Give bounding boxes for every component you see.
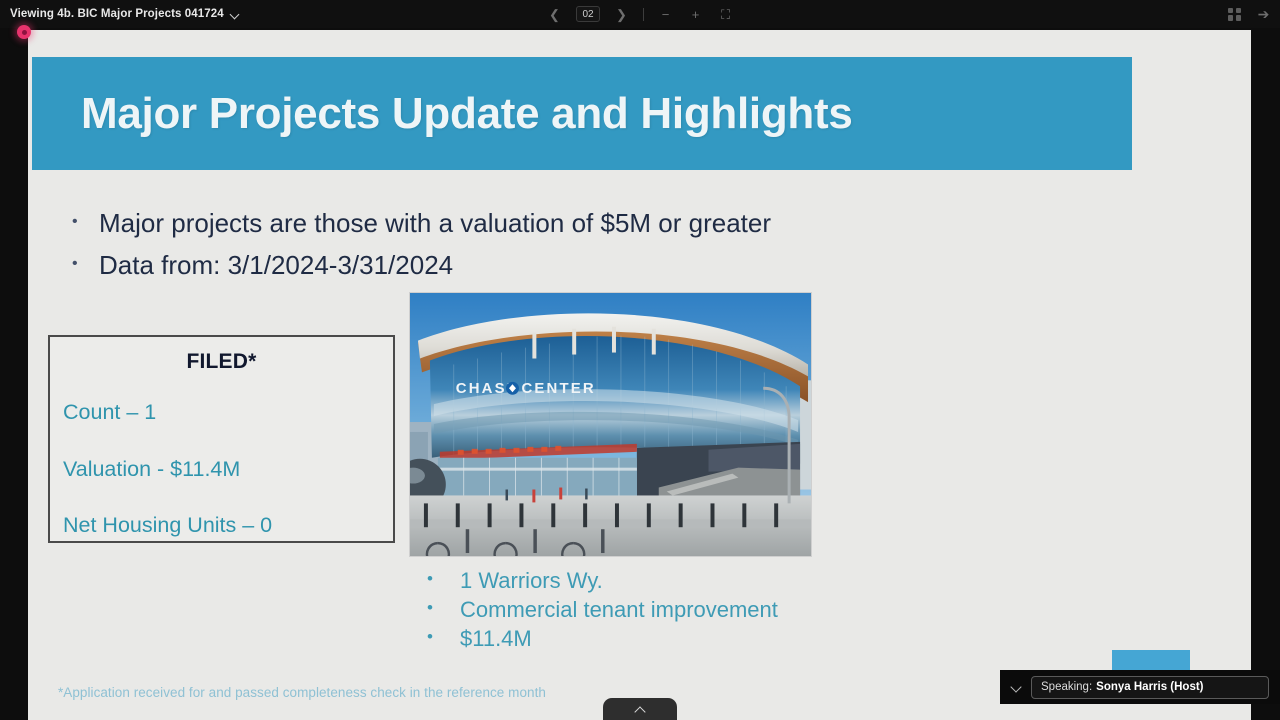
chase-center-illustration: CHASE CENTER [410, 293, 811, 556]
project-bullet-list: 1 Warriors Wy. Commercial tenant improve… [400, 566, 778, 653]
list-item: 1 Warriors Wy. [400, 566, 778, 595]
chevron-up-icon [634, 706, 646, 713]
filed-summary-box: FILED* Count – 1 Valuation - $11.4M Net … [48, 335, 395, 543]
expand-toolbar-handle[interactable] [603, 698, 677, 720]
chevron-right-icon[interactable]: ❯ [613, 6, 630, 23]
svg-text:CENTER: CENTER [521, 381, 595, 397]
filed-box-title: FILED* [50, 350, 393, 374]
page-controls: ❮ 02 ❯ − + ⛶ [546, 0, 734, 28]
chevron-down-icon[interactable] [1010, 683, 1023, 692]
filed-valuation: Valuation - $11.4M [50, 459, 393, 481]
toolbar-right-actions: ➔ [1228, 0, 1272, 28]
page-title: Major Projects Update and Highlights [81, 89, 853, 139]
list-item: $11.4M [400, 624, 778, 653]
chase-center-photo: CHASE CENTER [409, 292, 812, 557]
recording-dot-icon [17, 25, 31, 39]
list-item: Major projects are those with a valuatio… [66, 202, 1066, 244]
speaking-label: Speaking: [1041, 681, 1092, 693]
pointer-icon[interactable]: ➔ [1255, 6, 1272, 23]
minus-icon[interactable]: − [657, 6, 674, 23]
intro-bullet-list: Major projects are those with a valuatio… [66, 202, 1066, 286]
slide-canvas: Major Projects Update and Highlights Maj… [28, 30, 1251, 720]
slide-banner: Major Projects Update and Highlights [32, 57, 1132, 170]
speaking-status[interactable]: Speaking: Sonya Harris (Host) [1031, 676, 1269, 699]
list-item: Commercial tenant improvement [400, 595, 778, 624]
chevron-down-icon[interactable] [231, 10, 240, 19]
slide-footnote: *Application received for and passed com… [58, 685, 546, 700]
app-root: Viewing 4b. BIC Major Projects 041724 ❮ … [0, 0, 1280, 720]
top-toolbar: Viewing 4b. BIC Major Projects 041724 ❮ … [0, 0, 1280, 28]
chevron-left-icon[interactable]: ❮ [546, 6, 563, 23]
plus-icon[interactable]: + [687, 6, 704, 23]
toolbar-divider [643, 8, 644, 21]
viewing-title-text: Viewing 4b. BIC Major Projects 041724 [10, 8, 224, 20]
page-indicator[interactable]: 02 [576, 6, 600, 22]
fit-to-screen-icon[interactable]: ⛶ [717, 6, 734, 23]
grid-view-icon[interactable] [1228, 8, 1241, 21]
filed-net-housing-units: Net Housing Units – 0 [50, 515, 393, 537]
speaking-indicator-bar: Speaking: Sonya Harris (Host) [1000, 670, 1280, 704]
filed-count: Count – 1 [50, 402, 393, 424]
viewing-title[interactable]: Viewing 4b. BIC Major Projects 041724 [10, 0, 240, 28]
speaking-name: Sonya Harris (Host) [1096, 681, 1203, 693]
list-item: Data from: 3/1/2024-3/31/2024 [66, 244, 1066, 286]
